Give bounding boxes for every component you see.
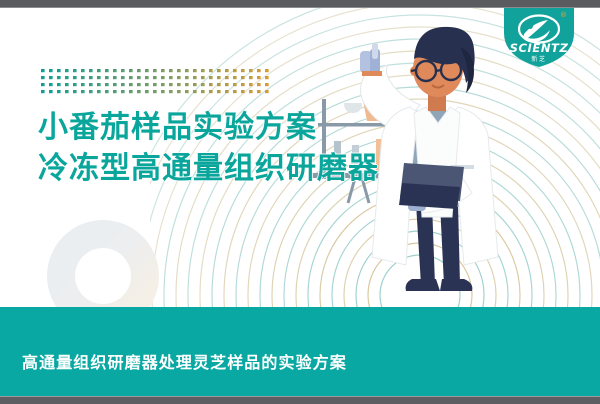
banner-caption: 高通量组织研磨器处理灵芝样品的实验方案	[22, 349, 347, 373]
window-chrome-bottom-bar	[0, 396, 600, 404]
headline-line-1: 小番茄样品实验方案	[38, 107, 379, 148]
headline-line-2: 冷冻型高通量组织研磨器	[38, 148, 379, 189]
registered-mark-icon: ®	[560, 11, 567, 19]
page-title: 小番茄样品实验方案 冷冻型高通量组织研磨器	[38, 107, 379, 189]
scientist-figure	[360, 27, 498, 291]
window-chrome-top-bar	[0, 0, 600, 8]
dot-grid-pattern	[41, 69, 273, 97]
bottom-banner: 高通量组织研磨器处理灵芝样品的实验方案	[0, 307, 600, 404]
logo-sub-wordmark: 新芝	[531, 55, 546, 63]
poster-root: 小番茄样品实验方案 冷冻型高通量组织研磨器 SCIENTZ 新芝 ® 高通量组织…	[0, 0, 600, 404]
test-tube-in-glove	[360, 43, 382, 76]
logo-wordmark: SCIENTZ	[510, 41, 569, 55]
scientz-logo[interactable]: SCIENTZ 新芝 ®	[502, 7, 576, 69]
